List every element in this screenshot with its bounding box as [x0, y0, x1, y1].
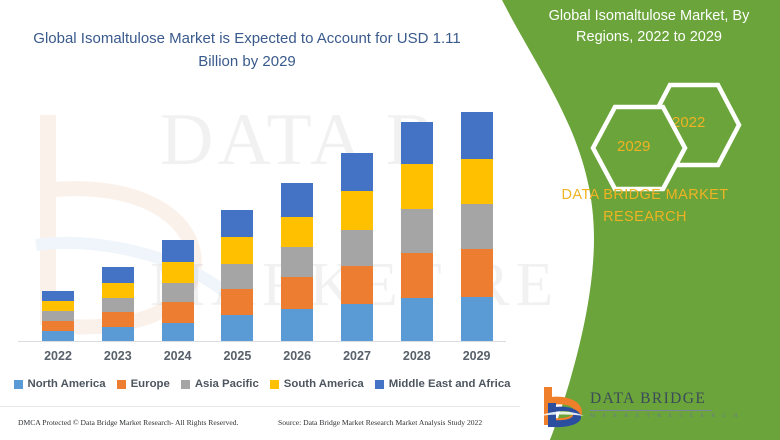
chart-plot-area: 20222023202420252026202720282029	[0, 0, 520, 380]
legend-item-north-america[interactable]: North America	[14, 378, 106, 390]
bar-segment	[102, 267, 134, 283]
panel-brand-text: DATA BRIDGE MARKET RESEARCH	[520, 185, 770, 229]
bar-segment	[401, 164, 433, 209]
x-axis-label-2027: 2027	[327, 349, 387, 363]
bar-segment	[102, 312, 134, 327]
x-axis-line	[18, 341, 506, 342]
legend-item-asia-pacific[interactable]: Asia Pacific	[181, 378, 259, 390]
legend-swatch-icon	[270, 380, 279, 389]
bar-segment	[221, 315, 253, 341]
panel-content: Global Isomaltulose Market, By Regions, …	[490, 0, 780, 440]
bar-segment	[341, 191, 373, 230]
bar-segment	[162, 323, 194, 341]
bar-2027	[341, 153, 373, 341]
bar-segment	[162, 262, 194, 283]
bar-2028	[401, 122, 433, 341]
legend-swatch-icon	[375, 380, 384, 389]
bar-segment	[341, 266, 373, 304]
legend-label: Asia Pacific	[195, 378, 259, 390]
bar-segment	[281, 247, 313, 277]
bar-segment	[341, 230, 373, 266]
logo-rule	[590, 410, 712, 411]
logo-name: DATA BRIDGE	[590, 390, 741, 408]
bar-segment	[221, 264, 253, 289]
bar-2026	[281, 183, 313, 341]
bar-segment	[461, 159, 493, 204]
bar-segment	[281, 309, 313, 341]
x-axis-label-2026: 2026	[267, 349, 327, 363]
legend-label: North America	[28, 378, 106, 390]
legend-item-south-america[interactable]: South America	[270, 378, 364, 390]
legend-swatch-icon	[117, 380, 126, 389]
infographic-root: DATA B MARKET RE Global Isomaltulose Mar…	[0, 0, 780, 440]
legend-item-europe[interactable]: Europe	[117, 378, 170, 390]
legend-swatch-icon	[14, 380, 23, 389]
company-logo: DATA BRIDGE M A R K E T R E S E A R C H	[538, 385, 748, 431]
legend-label: South America	[284, 378, 364, 390]
bar-segment	[341, 304, 373, 341]
panel-brand-line-1: DATA BRIDGE MARKET	[520, 185, 770, 207]
x-axis-label-2024: 2024	[148, 349, 208, 363]
x-axis-label-2025: 2025	[207, 349, 267, 363]
bar-segment	[162, 283, 194, 302]
footer-divider	[0, 406, 520, 407]
bar-segment	[461, 204, 493, 249]
bar-segment	[401, 253, 433, 298]
bar-segment	[461, 112, 493, 159]
footer-source: Source: Data Bridge Market Research Mark…	[278, 418, 482, 427]
bar-segment	[281, 217, 313, 247]
hexagon-2029-label: 2029	[617, 138, 650, 155]
bar-segment	[221, 289, 253, 315]
bar-segment	[162, 240, 194, 262]
bar-segment	[42, 301, 74, 311]
bar-2023	[102, 267, 134, 341]
panel-title: Global Isomaltulose Market, By Regions, …	[528, 6, 770, 48]
bar-segment	[281, 183, 313, 217]
bar-segment	[341, 153, 373, 191]
bar-segment	[42, 311, 74, 321]
x-axis-label-2022: 2022	[28, 349, 88, 363]
bar-segment	[102, 327, 134, 341]
x-axis-label-2028: 2028	[387, 349, 447, 363]
bar-segment	[461, 249, 493, 297]
bar-segment	[162, 302, 194, 323]
legend-swatch-icon	[181, 380, 190, 389]
bar-segment	[102, 283, 134, 298]
bar-segment	[401, 298, 433, 341]
bar-segment	[221, 210, 253, 237]
bar-segment	[401, 209, 433, 253]
bar-2029	[461, 112, 493, 341]
logo-text: DATA BRIDGE M A R K E T R E S E A R C H	[590, 390, 741, 419]
bar-segment	[42, 331, 74, 341]
bar-2025	[221, 210, 253, 341]
panel-brand-line-2: RESEARCH	[520, 207, 770, 229]
footer-copyright: DMCA Protected © Data Bridge Market Rese…	[18, 418, 238, 427]
bar-segment	[102, 298, 134, 312]
bar-segment	[461, 297, 493, 341]
bar-segment	[42, 291, 74, 301]
data-bridge-logo-mark	[538, 385, 586, 429]
logo-tagline: M A R K E T R E S E A R C H	[590, 413, 741, 419]
bar-segment	[401, 122, 433, 164]
legend-label: Europe	[131, 378, 170, 390]
bar-segment	[221, 237, 253, 264]
chart-legend: North AmericaEuropeAsia PacificSouth Ame…	[12, 374, 512, 394]
brand-panel: Global Isomaltulose Market, By Regions, …	[490, 0, 780, 440]
bar-segment	[281, 277, 313, 309]
bar-segment	[42, 321, 74, 331]
x-axis-label-2023: 2023	[88, 349, 148, 363]
bar-2024	[162, 240, 194, 341]
bar-2022	[42, 291, 74, 341]
hexagon-group: 2022 2029	[490, 82, 780, 187]
